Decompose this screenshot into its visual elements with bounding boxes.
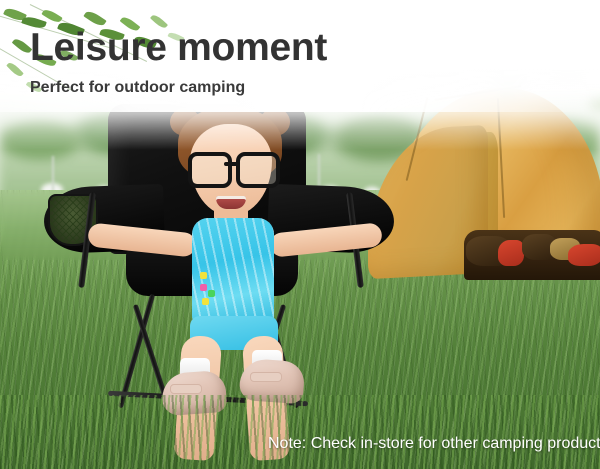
page-title: Leisure moment — [30, 28, 327, 67]
glasses-left-lens — [188, 152, 232, 188]
page-subtitle: Perfect for outdoor camping — [30, 80, 245, 96]
tent-interior-gear — [464, 230, 600, 280]
footer-note: Note: Check in-store for other camping p… — [268, 436, 600, 452]
promo-banner: Leisure moment Perfect for outdoor campi… — [0, 0, 600, 469]
shirt-graphic — [208, 290, 215, 297]
glasses-bridge — [224, 162, 238, 166]
sneaker-strap-left — [170, 384, 202, 394]
shirt-graphic — [202, 298, 209, 305]
foreground-grass — [0, 395, 600, 469]
child-model — [132, 100, 362, 440]
glasses-right-lens — [236, 152, 280, 188]
tie-dye-top — [192, 218, 274, 326]
sneaker-strap-right — [250, 372, 282, 382]
shirt-graphic — [200, 272, 207, 279]
shirt-graphic — [200, 284, 207, 291]
